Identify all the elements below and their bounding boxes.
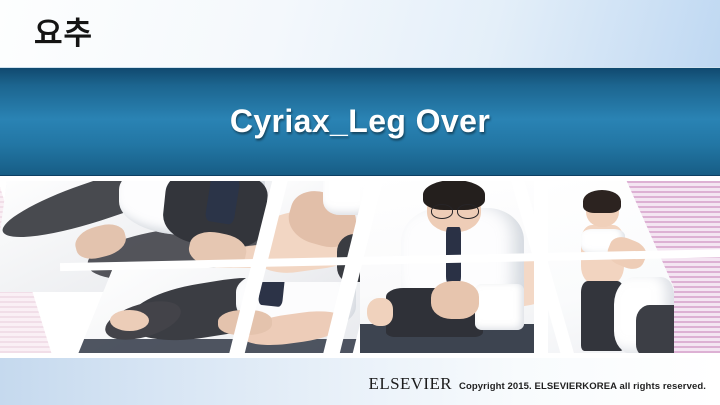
collage-frame-top	[0, 176, 720, 181]
therapist-pants	[636, 305, 674, 354]
doctor-glasses-right-lens	[457, 204, 479, 218]
slide-footer: ELSEVIER Copyright 2015. ELSEVIERKOREA a…	[0, 358, 720, 405]
slide-header: 요추	[0, 0, 720, 68]
patient-foot	[367, 298, 393, 326]
doctor-hands	[431, 281, 479, 319]
woman-hair	[583, 190, 621, 213]
footer-content: ELSEVIER Copyright 2015. ELSEVIERKOREA a…	[369, 374, 706, 394]
elsevier-logo: ELSEVIER	[369, 374, 452, 394]
photo-collage	[0, 176, 720, 358]
slide-title: Cyriax_Leg Over	[0, 68, 720, 175]
doctor-glasses-left-lens	[431, 204, 453, 218]
title-banner: Cyriax_Leg Over	[0, 68, 720, 175]
presentation-slide: 요추 Cyriax_Leg Over	[0, 0, 720, 405]
patient-shorts	[475, 284, 523, 329]
copyright-text: Copyright 2015. ELSEVIERKOREA all rights…	[459, 381, 706, 392]
category-title: 요추	[34, 16, 93, 52]
